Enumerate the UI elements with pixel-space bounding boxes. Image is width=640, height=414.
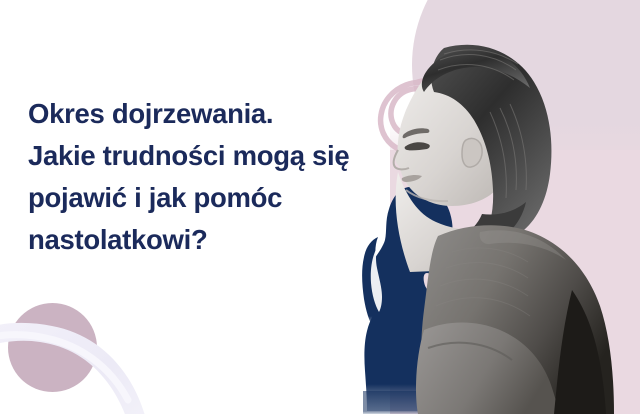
article-hero-banner: Okres dojrzewania. Jakie trudności mogą … <box>0 0 640 414</box>
page-title: Okres dojrzewania. Jakie trudności mogą … <box>28 93 388 261</box>
dusty-rose-circle-decoration <box>8 303 97 392</box>
lavender-brush-stroke-decoration <box>0 250 200 414</box>
